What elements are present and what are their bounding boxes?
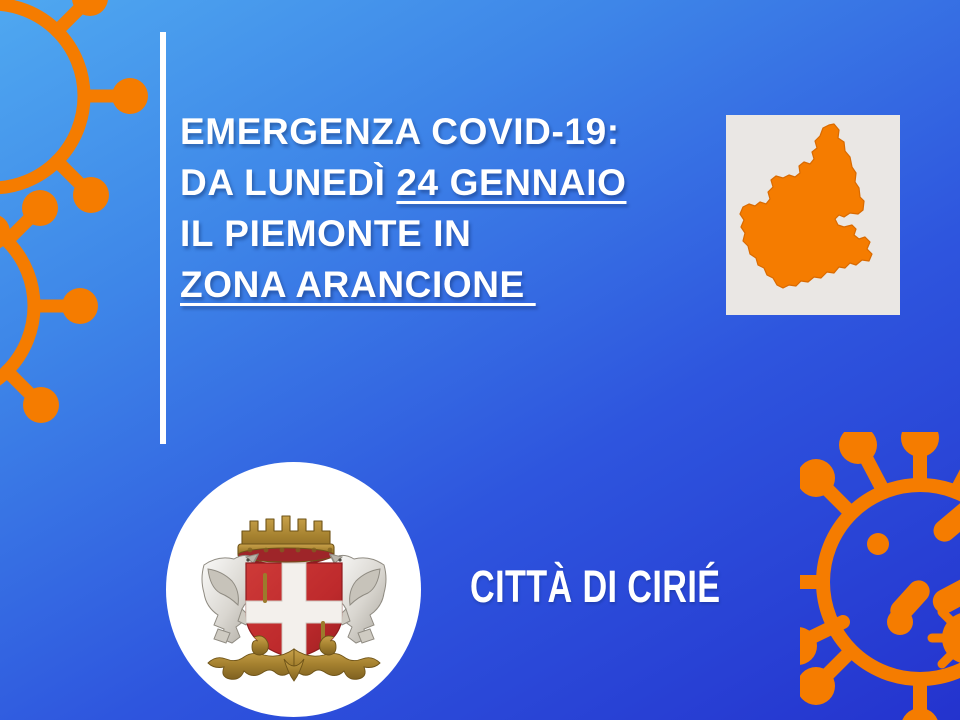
headline-line-1: EMERGENZA COVID-19: — [180, 106, 720, 157]
headline-line-2: DA LUNEDÌ 24 GENNAIO — [180, 157, 720, 208]
headline-line-3: IL PIEMONTE IN — [180, 208, 720, 259]
piemonte-map-panel — [726, 115, 900, 315]
city-coat-of-arms — [196, 497, 392, 687]
headline-line-4: ZONA ARANCIONE — [180, 259, 720, 310]
piemonte-region-map-icon — [726, 115, 900, 315]
accent-bar — [160, 32, 166, 444]
page-title: EMERGENZA COVID-19: DA LUNEDÌ 24 GENNAIO… — [180, 106, 720, 310]
coronavirus-cluster-left-icon — [0, 0, 182, 446]
headline-line-4-underlined: ZONA ARANCIONE — [180, 264, 536, 305]
headline-line-2-underlined: 24 GENNAIO — [396, 162, 626, 203]
covid-announcement-slide: EMERGENZA COVID-19: DA LUNEDÌ 24 GENNAIO… — [0, 0, 960, 720]
coronavirus-cluster-right-icon — [800, 432, 960, 720]
headline-line-2-plain: DA LUNEDÌ — [180, 162, 396, 203]
city-name-label: CITTÀ DI CIRIÉ — [470, 561, 720, 613]
